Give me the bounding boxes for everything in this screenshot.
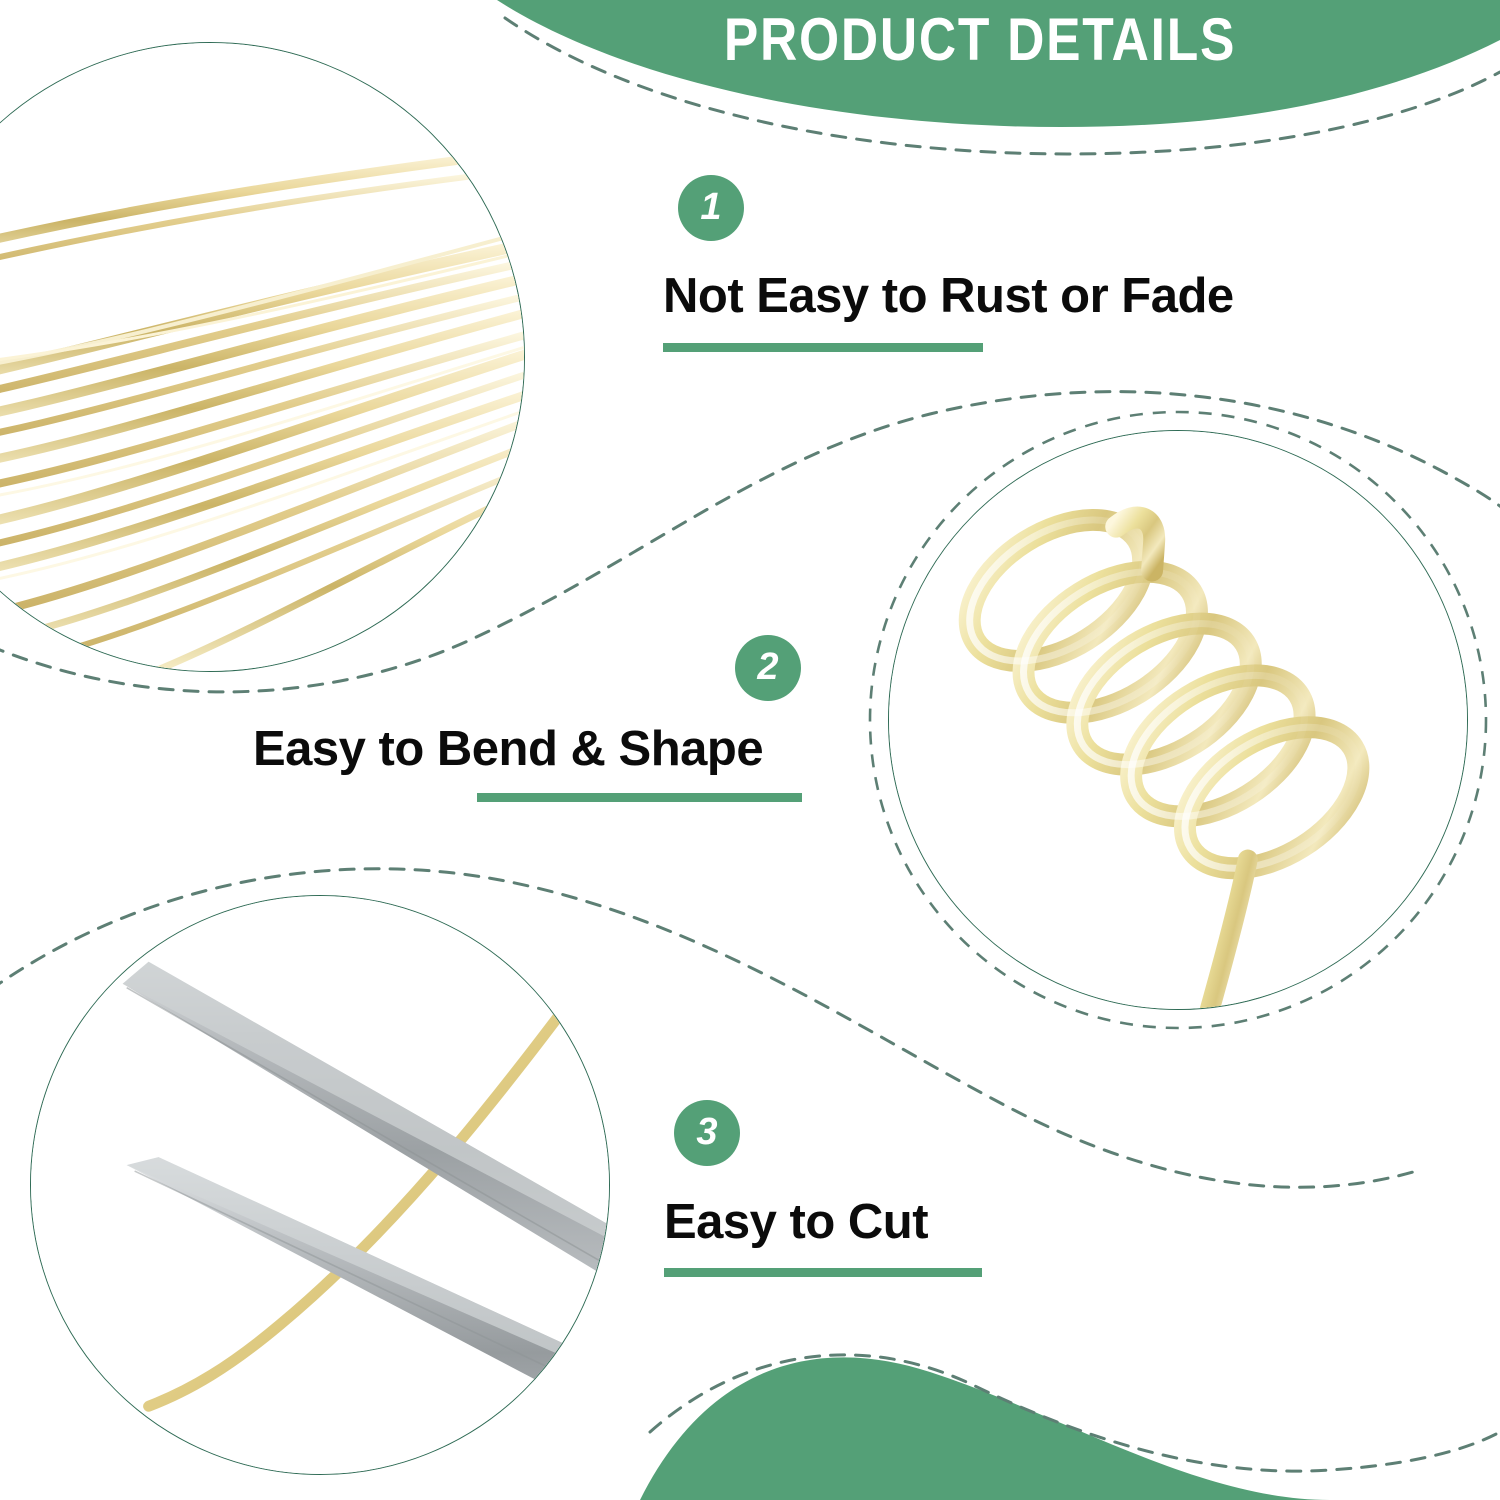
feature-title-3: Easy to Cut	[664, 1198, 928, 1247]
feature-number-1: 1	[700, 188, 721, 226]
feature-title-2: Easy to Bend & Shape	[253, 725, 763, 774]
feature-underline-3	[664, 1268, 982, 1277]
feature-title-1: Not Easy to Rust or Fade	[663, 272, 1234, 321]
feature-underline-2	[477, 793, 802, 802]
feature-number-badge-2: 2	[735, 635, 801, 701]
feature-number-2: 2	[757, 648, 778, 686]
feature-number-badge-3: 3	[674, 1100, 740, 1166]
product-details-infographic: PRODUCT DETAILS 1 Not Easy to Rust or Fa…	[0, 0, 1500, 1500]
feature-number-badge-1: 1	[678, 175, 744, 241]
page-title: PRODUCT DETAILS	[679, 8, 1281, 71]
feature-underline-1	[663, 343, 983, 352]
feature-number-3: 3	[696, 1113, 717, 1151]
content-layer: PRODUCT DETAILS 1 Not Easy to Rust or Fa…	[0, 0, 1500, 1500]
